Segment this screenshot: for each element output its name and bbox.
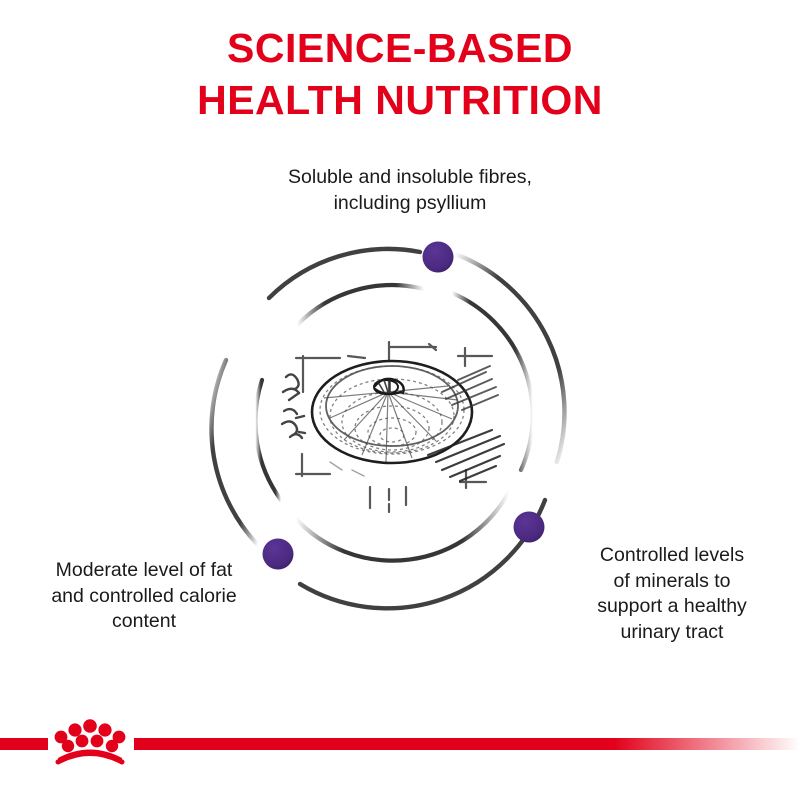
callout-fibres: Soluble and insoluble fibres, including …	[230, 165, 590, 216]
footer-bar-right	[134, 738, 800, 750]
kibble-technical-sketch	[282, 342, 504, 512]
callout-fibres-line-1: Soluble and insoluble fibres,	[230, 165, 590, 191]
callout-fat-line-1: Moderate level of fat	[8, 558, 280, 584]
callout-fat-line-3: content	[8, 609, 280, 635]
diagram-nodes	[263, 242, 545, 570]
footer-bar-left	[0, 738, 48, 750]
callout-fat: Moderate level of fat and controlled cal…	[8, 558, 280, 635]
node-minerals[interactable]	[514, 512, 545, 543]
callout-minerals: Controlled levels of minerals to support…	[552, 543, 792, 645]
callout-minerals-line-2: of minerals to	[552, 569, 792, 595]
brand-footer	[0, 710, 800, 800]
royal-canin-crown-logo	[55, 719, 126, 764]
callout-minerals-line-4: urinary tract	[552, 620, 792, 646]
inner-ring	[255, 285, 532, 561]
callout-minerals-line-1: Controlled levels	[552, 543, 792, 569]
callout-minerals-line-3: support a healthy	[552, 594, 792, 620]
product-benefits-infographic: SCIENCE-BASED HEALTH NUTRITION	[0, 0, 800, 800]
callout-fat-line-2: and controlled calorie	[8, 584, 280, 610]
node-fibres[interactable]	[423, 242, 454, 273]
callout-fibres-line-2: including psyllium	[230, 191, 590, 217]
benefits-diagram: Soluble and insoluble fibres, including …	[0, 0, 800, 720]
